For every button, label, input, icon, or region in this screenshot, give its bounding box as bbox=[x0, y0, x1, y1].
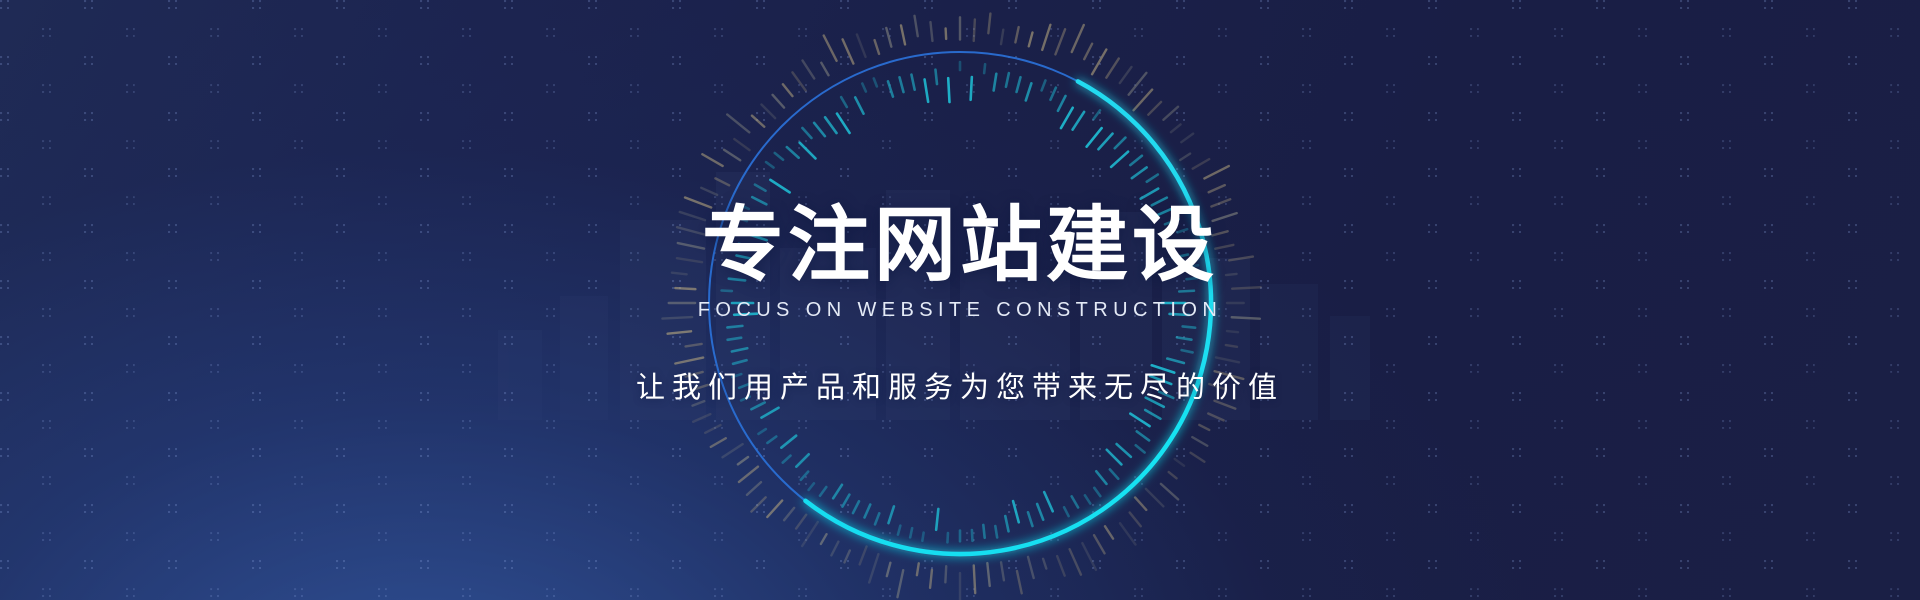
banner-subtitle: FOCUS ON WEBSITE CONSTRUCTION bbox=[698, 299, 1222, 322]
banner-content: 专注网站建设 FOCUS ON WEBSITE CONSTRUCTION 让我们… bbox=[0, 0, 1920, 600]
banner-tagline: 让我们用产品和服务为您带来无尽的价值 bbox=[636, 364, 1284, 406]
hero-banner: 专注网站建设 FOCUS ON WEBSITE CONSTRUCTION 让我们… bbox=[0, 0, 1920, 600]
page-title: 专注网站建设 bbox=[702, 205, 1218, 287]
